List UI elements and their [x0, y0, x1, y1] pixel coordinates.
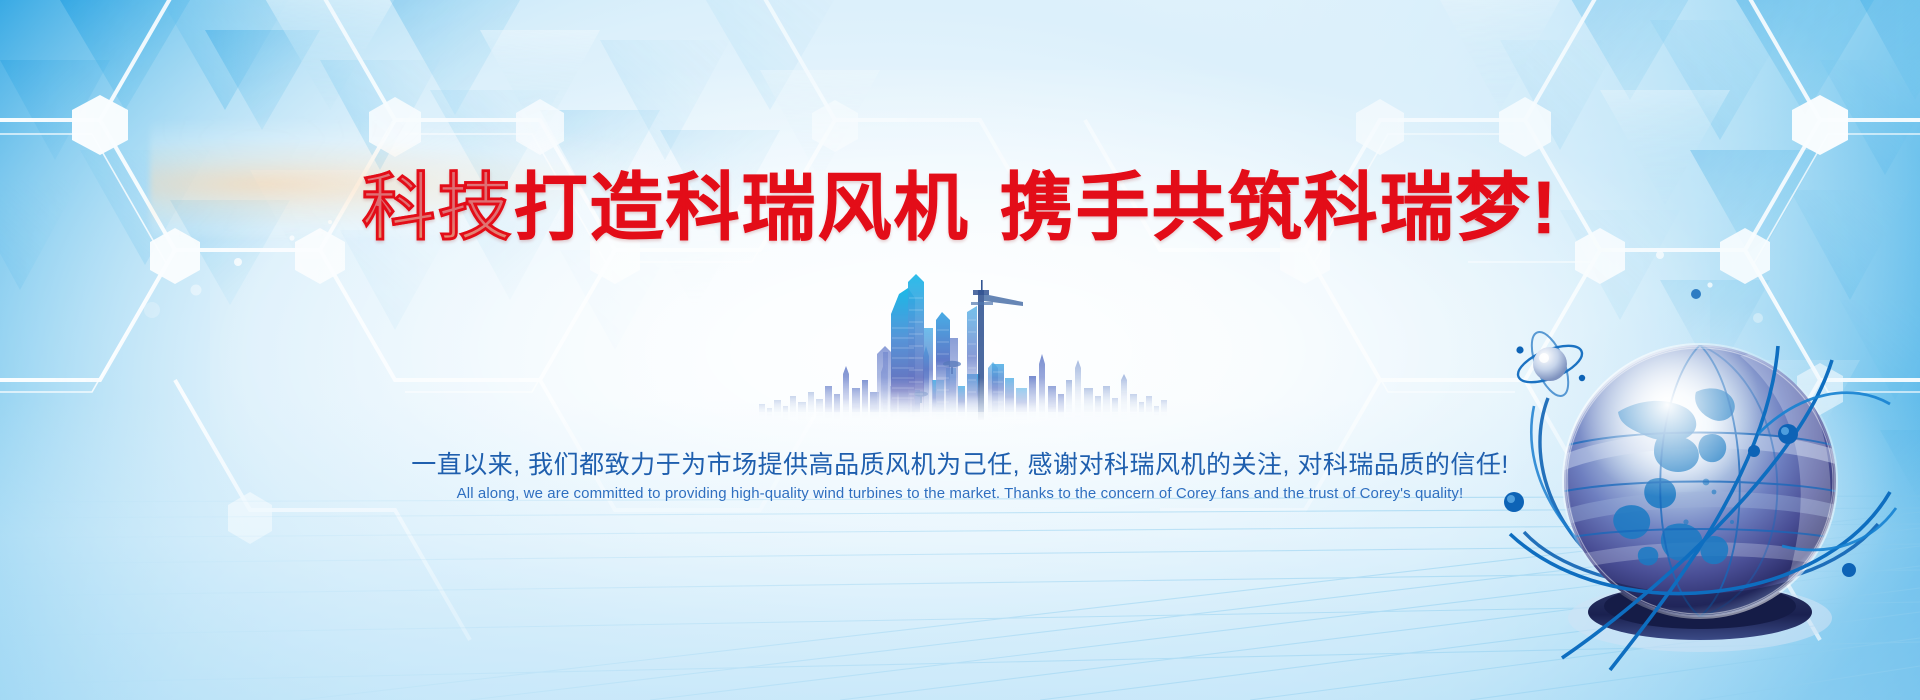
headline-second: 携手共筑科瑞梦!	[1000, 166, 1559, 249]
headline-accent: 科技	[362, 166, 514, 249]
city-skyline-icon	[745, 268, 1175, 420]
promo-banner: 科技打造科瑞风机携手共筑科瑞梦!	[0, 0, 1920, 700]
headline-rest: 打造科瑞风机	[514, 166, 970, 249]
hex-pattern-left	[0, 0, 1920, 700]
subtitle-english: All along, we are committed to providing…	[0, 484, 1920, 504]
center-glow	[210, 70, 1710, 630]
bottom-glow	[0, 400, 1920, 700]
page-title: 科技打造科瑞风机携手共筑科瑞梦!	[0, 171, 1920, 245]
subtitle-chinese: 一直以来, 我们都致力于为市场提供高品质风机为己任, 感谢对科瑞风机的关注, 对…	[0, 449, 1920, 482]
